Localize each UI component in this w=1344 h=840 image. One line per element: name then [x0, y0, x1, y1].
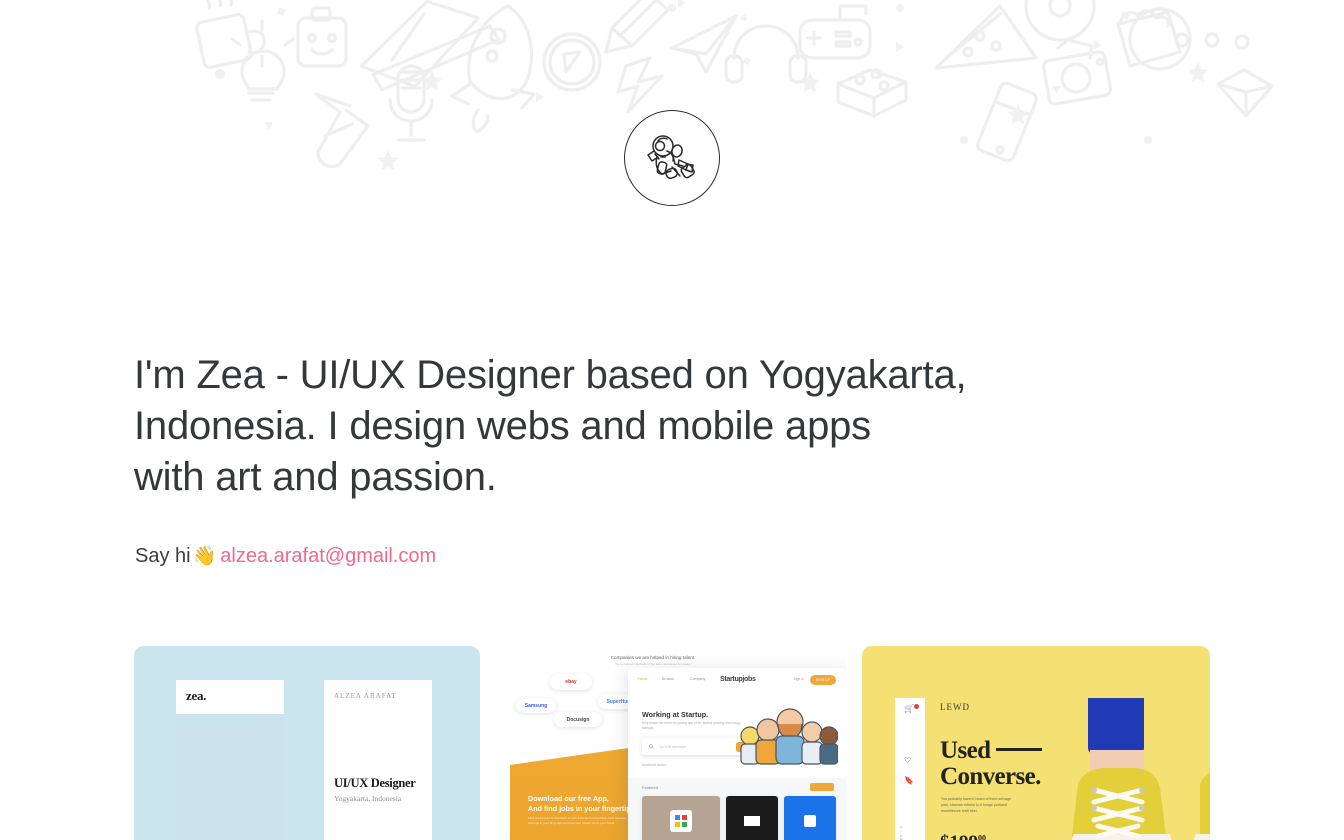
camera-icon: [1043, 40, 1112, 105]
project-card-startupjobs[interactable]: Companies we are helped in hiring talent…: [500, 646, 846, 840]
nav-browse[interactable]: Browse: [662, 677, 674, 681]
shop-rail-text: 1 / 18: [899, 826, 903, 840]
shop-price: $19900: [940, 832, 986, 840]
coffee-mug-icon: [196, 0, 264, 68]
popcorn-icon: [1118, 11, 1180, 66]
paper-plane-icon: [672, 16, 736, 72]
nav-home[interactable]: Home: [638, 677, 648, 681]
pacman-icon: [1130, 9, 1248, 69]
job-card-3[interactable]: Python Developer Location, ID: [784, 796, 836, 840]
business-card-front: zea.: [176, 680, 284, 840]
download-app-line-2: And find jobs in your fingertips!: [528, 804, 637, 813]
shop-headline-line-2: Converse.: [940, 763, 1041, 790]
bookmark-icon[interactable]: 🔖: [904, 776, 914, 785]
business-card-back: ALZEA ARAFAT UI/UX Designer Yogyakarta, …: [324, 680, 432, 840]
smartphone-icon: [976, 82, 1038, 163]
logo-docusign: Samsung: [516, 698, 556, 713]
say-hi-label: Say hi: [135, 545, 191, 567]
diamond-icon: [1218, 70, 1272, 116]
project-card-business-card[interactable]: zea. ALZEA ARAFAT UI/UX Designer Yogyaka…: [134, 646, 480, 840]
business-card-person-name: ALZEA ARAFAT: [334, 692, 397, 700]
cart-badge: [914, 704, 919, 709]
download-app-body: Find dream jobs & hundreds of jobs from …: [528, 816, 636, 825]
hero-headline-line-2: design webs and mobile apps: [349, 404, 871, 448]
microphone-icon: [390, 66, 432, 140]
plant-illustration: [250, 830, 298, 840]
laptop-icon: [357, 0, 502, 90]
shop-sidebar-rail: 🛒 ♡ 🔖 1 / 18: [895, 698, 925, 840]
job-card-1[interactable]: Life at Company Life at Company - Compan…: [642, 796, 720, 840]
project-card-converse-shop[interactable]: 🛒 ♡ 🔖 1 / 18 LEWD Used Converse. You pro…: [862, 646, 1210, 840]
team-illustration: [734, 706, 838, 766]
cart-icon[interactable]: 🛒: [904, 704, 914, 713]
project-card-list: zea. ALZEA ARAFAT UI/UX Designer Yogyaka…: [134, 646, 1210, 840]
converse-shoes-photo: [1042, 698, 1210, 840]
price-value: $199: [940, 832, 978, 840]
brand-part-b: jobs: [742, 676, 755, 683]
job-company-logo-icon: [670, 810, 692, 832]
rocket-icon: [452, 6, 534, 132]
waving-hand-icon: 👋: [193, 546, 217, 567]
shop-brand: LEWD: [940, 702, 970, 712]
logo-docusign-2: Docusign: [554, 712, 602, 727]
portfolio-landing-page: I'm Zea - UI/UX Designer based on Yogyak…: [0, 0, 1344, 840]
pencil-icon: [606, 0, 668, 52]
gamepad-icon: [800, 6, 870, 58]
business-card-logo-text: zea.: [186, 688, 206, 704]
site-logo[interactable]: [624, 110, 720, 206]
featured-label: Featured: [642, 785, 658, 790]
sign-in-link[interactable]: Sign In: [793, 677, 804, 681]
pizza-slice-icon: [936, 6, 1036, 68]
price-cents: 00: [978, 834, 986, 840]
flask-icon: [316, 94, 368, 167]
job-card-2[interactable]: Frontend Developer Jobs Company: [726, 796, 778, 840]
logo-ebay: ebay: [550, 674, 592, 690]
startupjobs-browser-mockup: Home Browse Company Startupjobs Sign In …: [628, 668, 846, 840]
hero-headline-line-3: with art and passion.: [134, 452, 1144, 503]
startupjobs-brand: Startupjobs: [720, 676, 756, 683]
headline-rule: [996, 748, 1048, 751]
browser-headline: Working at Startup.: [642, 710, 708, 719]
advanced-search-link[interactable]: Advanced search: [642, 763, 667, 767]
shop-headline: Used Converse.: [940, 738, 1048, 790]
brand-part-a: Startup: [720, 676, 742, 683]
lego-brick-icon: [838, 70, 906, 116]
download-app-line-1: Download our free App,: [528, 794, 609, 803]
lightbulb-icon: [232, 21, 293, 100]
email-link[interactable]: alzea.arafat@gmail.com: [220, 545, 436, 567]
shop-body-text: You probably haven't heard of them selva…: [941, 796, 1019, 814]
contact-line: Say hi👋alzea.arafat@gmail.com: [135, 543, 436, 570]
hero-headline: I'm Zea - UI/UX Designer based on Yogyak…: [134, 350, 1144, 503]
lego-head-icon: [298, 8, 346, 66]
companies-subtitle: We've helped hundreds of the best compan…: [568, 662, 738, 666]
business-card-location: Yogyakarta, Indonesia: [334, 794, 401, 803]
headphones-icon: [726, 26, 806, 82]
compass-icon: [544, 34, 600, 90]
lightning-bolt-icon: [618, 58, 662, 112]
companies-title: Companies we are helped in hiring talent…: [558, 655, 748, 660]
sign-up-button[interactable]: SIGN UP: [810, 675, 836, 685]
shop-headline-line-1: Used: [940, 737, 990, 764]
business-card-role: UI/UX Designer: [334, 776, 416, 791]
search-icon: [649, 744, 654, 749]
astronaut-logo-icon: [624, 110, 720, 206]
nav-company[interactable]: Company: [690, 677, 705, 681]
featured-see-more-button[interactable]: [810, 783, 834, 791]
heart-icon[interactable]: ♡: [904, 756, 911, 765]
job-search-placeholder: Try: iOS developer: [659, 745, 686, 749]
cd-disc-icon: [1026, 0, 1094, 40]
